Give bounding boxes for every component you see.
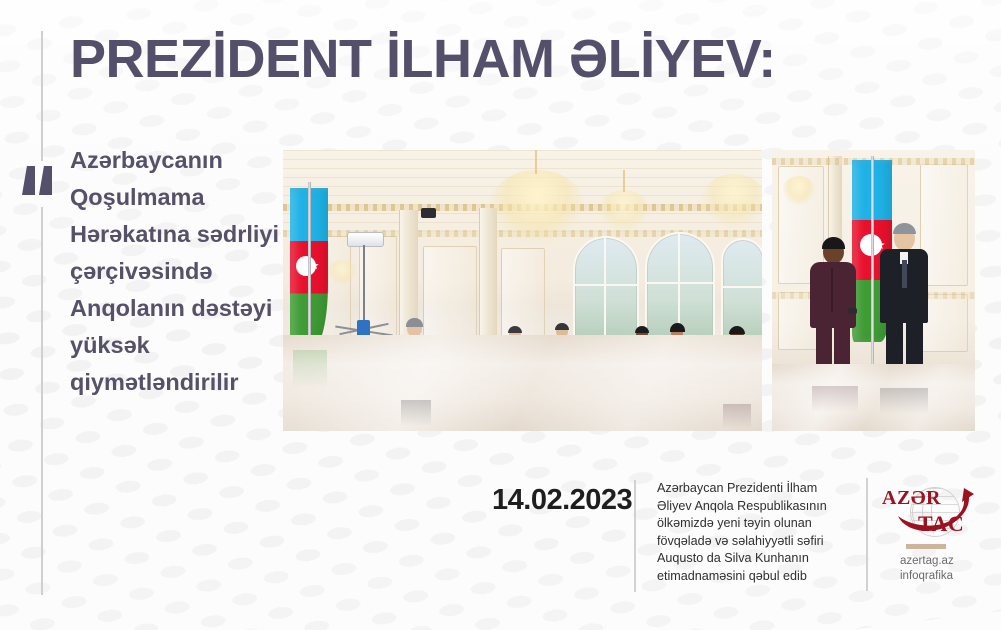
azertac-logo-mark: AZƏR TAC: [880, 484, 986, 540]
left-accent-rule-top: [41, 31, 43, 161]
pull-quote-text: Azərbaycanın Qoşulmama Hərəkatına sədrli…: [70, 142, 285, 401]
logo-word-azer: AZƏR: [882, 487, 941, 510]
quotation-mark-icon: [22, 166, 62, 196]
caption-divider: [634, 480, 636, 592]
photo-president-and-ambassador: [772, 150, 975, 431]
logo-subtext: azertag.az infoqrafika: [900, 554, 954, 584]
infographic-poster: PREZİDENT İLHAM ƏLİYEV: Azərbaycanın Qoş…: [0, 0, 1001, 630]
left-accent-rule-bottom: [41, 207, 43, 595]
logo-accent-bar: [906, 544, 946, 549]
logo-section-label: infoqrafika: [900, 569, 954, 584]
publication-date: 14.02.2023: [492, 484, 632, 517]
logo-word-tac: TAC: [918, 511, 964, 537]
azertac-logo[interactable]: AZƏR TAC azertag.az infoqrafika: [880, 484, 986, 584]
logo-site-url: azertag.az: [900, 554, 954, 569]
page-title: PREZİDENT İLHAM ƏLİYEV:: [70, 28, 776, 90]
caption-text: Azərbaycan Prezidenti İlham Əliyev Anqol…: [657, 480, 855, 586]
logo-divider: [866, 478, 868, 591]
photo-main-meeting-hall: [283, 150, 762, 431]
